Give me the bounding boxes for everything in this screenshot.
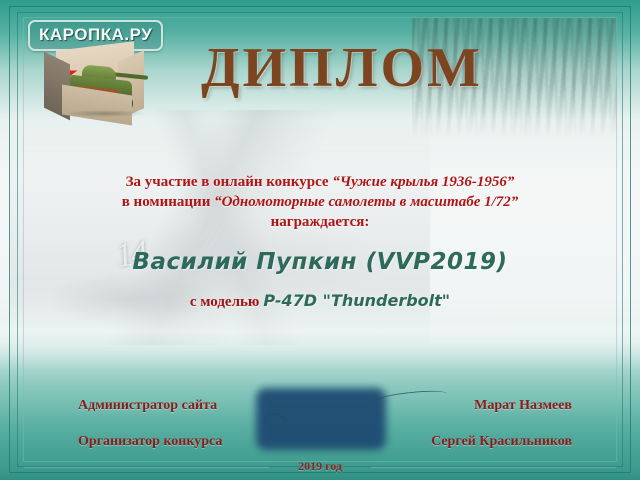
nomination-prefix: в номинации — [122, 194, 214, 210]
model-label: с моделью — [190, 294, 260, 310]
signature-role: Администратор сайта — [78, 398, 217, 414]
recipient-name: Василий Пупкин (VVP2019) — [0, 249, 640, 275]
awarded-label: награждается: — [0, 212, 640, 232]
tank-shadow — [64, 110, 146, 117]
award-text-block: За участие в онлайн конкурсе “Чужие крыл… — [0, 172, 640, 232]
model-line: с модельюP-47D "Thunderbolt" — [0, 291, 640, 311]
year-label: 2019 год — [0, 459, 640, 474]
diploma-certificate: 14 КАРОПКА.РУ ДИПЛОМ За участие в онлайн… — [0, 0, 640, 480]
page-title: ДИПЛОМ — [0, 36, 640, 100]
signature-person: Сергей Красильников — [431, 434, 572, 450]
contest-name: “Чужие крылья 1936-1956” — [332, 174, 514, 190]
model-value: P-47D "Thunderbolt" — [263, 291, 450, 310]
signature-role: Организатор конкурса — [78, 434, 222, 450]
contest-line: За участие в онлайн конкурсе “Чужие крыл… — [0, 172, 640, 192]
nomination-line: в номинации “Одномоторные самолеты в мас… — [0, 192, 640, 212]
signature-person: Марат Назмеев — [474, 398, 572, 414]
contest-prefix: За участие в онлайн конкурсе — [126, 174, 333, 190]
nomination-name: “Одномоторные самолеты в масштабе 1/72” — [214, 194, 518, 210]
